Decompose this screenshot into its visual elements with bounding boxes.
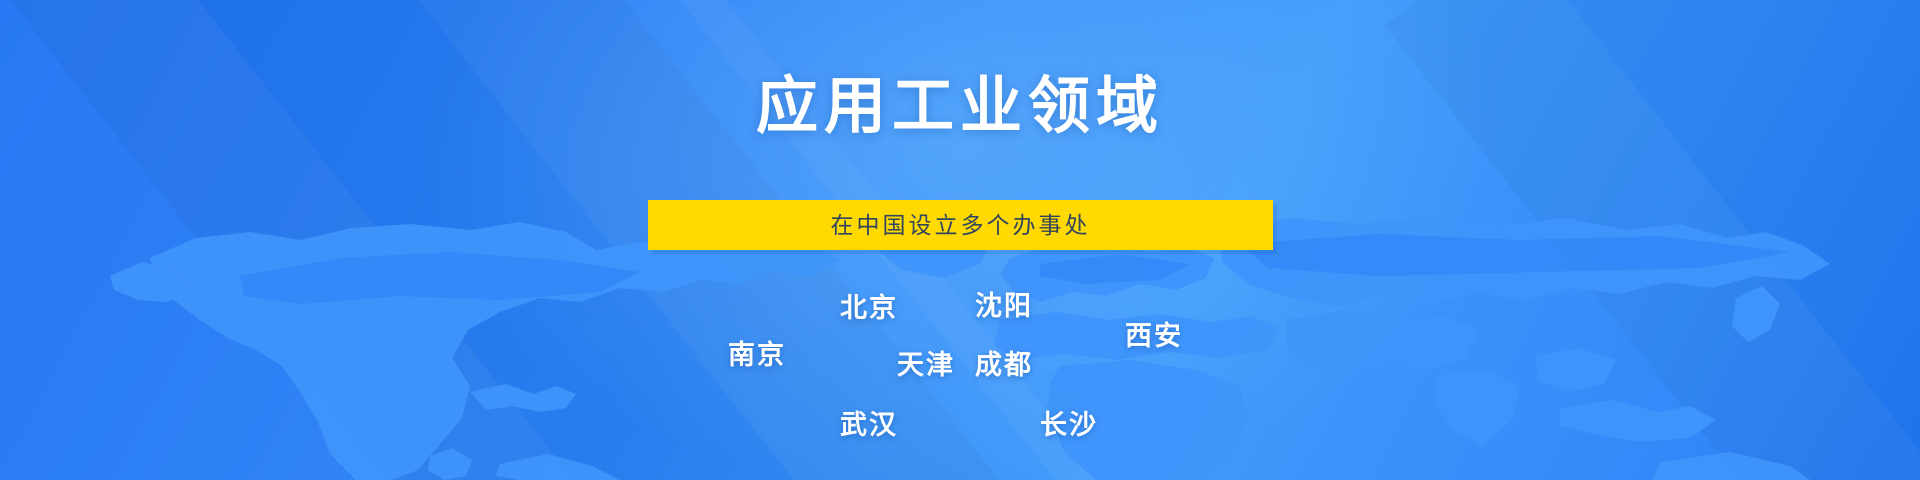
facet-shape xyxy=(0,0,590,480)
city-label-beijing: 北京 xyxy=(840,295,898,322)
city-label-tianjin: 天津 xyxy=(897,352,955,379)
city-label-shenyang: 沈阳 xyxy=(975,293,1033,320)
city-label-changsha: 长沙 xyxy=(1040,412,1098,439)
city-label-wuhan: 武汉 xyxy=(840,412,898,439)
city-label-xian: 西安 xyxy=(1125,323,1183,350)
hero-banner: 应用工业领域 在中国设立多个办事处 北京沈阳西安南京天津成都武汉长沙 xyxy=(0,0,1920,480)
city-label-nanjing: 南京 xyxy=(728,342,786,369)
subtitle-text: 在中国设立多个办事处 xyxy=(831,214,1091,237)
city-label-chengdu: 成都 xyxy=(975,352,1033,379)
facet-shape xyxy=(1384,0,1920,480)
page-title: 应用工业领域 xyxy=(0,76,1920,138)
subtitle-banner: 在中国设立多个办事处 xyxy=(648,200,1273,250)
